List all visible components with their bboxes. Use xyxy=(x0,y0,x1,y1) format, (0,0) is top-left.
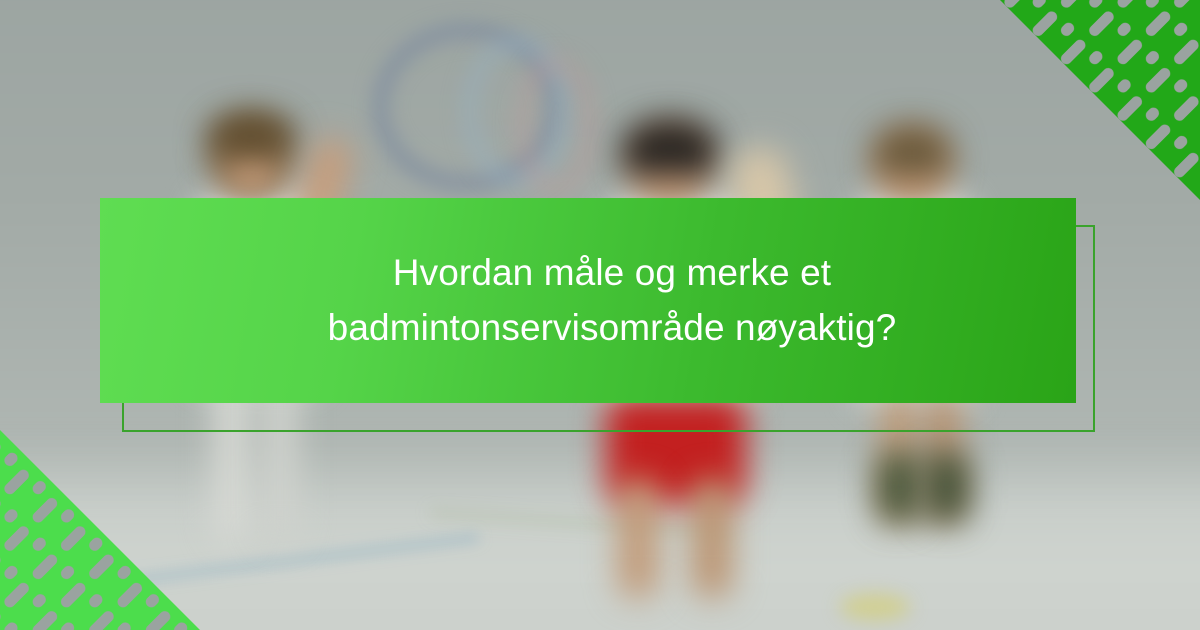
gym-hoop-accent-icon xyxy=(516,56,596,196)
cover-card: Hvordan måle og merke et badmintonservis… xyxy=(0,0,1200,630)
floor-marking xyxy=(840,594,910,620)
title-banner: Hvordan måle og merke et badmintonservis… xyxy=(100,198,1076,403)
child-middle-leg xyxy=(618,478,658,598)
child-middle-leg xyxy=(692,478,732,598)
dashed-triangle-top-right-icon xyxy=(1000,0,1200,200)
child-middle-hair xyxy=(622,118,718,176)
child-right-shoe xyxy=(924,452,970,522)
dashed-triangle-bottom-left-icon xyxy=(0,430,200,630)
child-right-shoe xyxy=(876,452,922,522)
page-title: Hvordan måle og merke et badmintonservis… xyxy=(238,246,938,354)
child-left-hair xyxy=(208,112,294,158)
child-right-hair xyxy=(872,124,952,178)
